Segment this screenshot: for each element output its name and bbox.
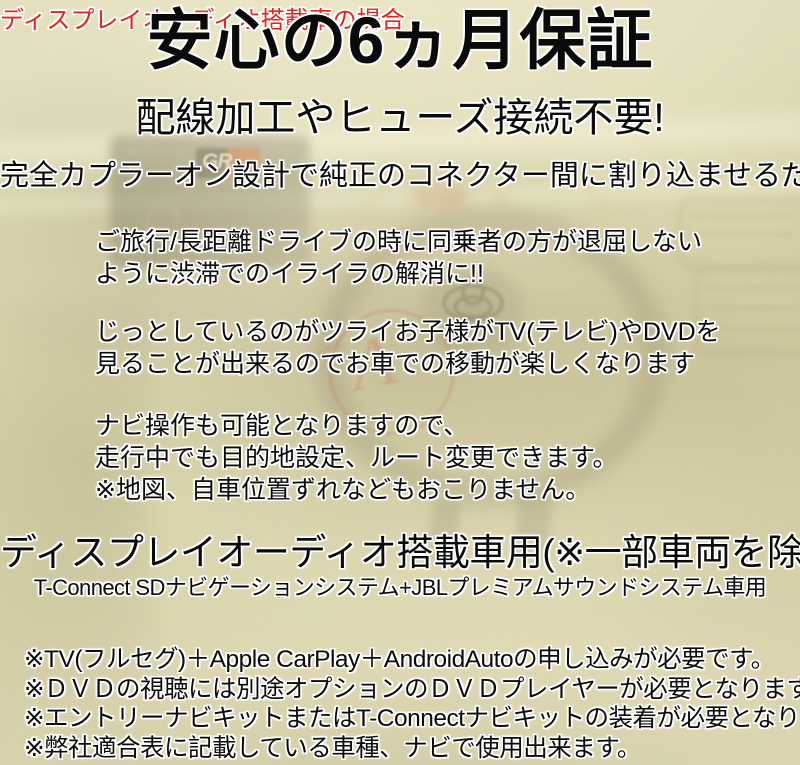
notice-item: ※エントリーナビキットまたはT-Connectナビキットの装着が必要となります。 [24, 704, 800, 734]
compatibility-sub-title: T-Connect SDナビゲーションシステム+JBLプレミアムサウンドシステム… [0, 570, 800, 602]
paragraph-line: ※地図、自車位置ずれなどもおこりません。 [95, 474, 618, 506]
notice-item: ※ＤＶＤの視聴には別途オプションのＤＶＤプレイヤーが必要となります。 [24, 675, 800, 705]
compatibility-main-title: ディスプレイオーディオ搭載車用(※一部車両を除く) [0, 522, 800, 576]
notice-list: ※TV(フルセグ)＋Apple CarPlay＋AndroidAutoの申し込み… [24, 645, 800, 763]
paragraph-line: 走行中でも目的地設定、ルート変更できます。 [95, 442, 618, 474]
paragraph-line: ご旅行/長距離ドライブの時に同乗者の方が退屈しない [95, 226, 702, 258]
subheadline-no-wiring: 配線加工やヒューズ接続不要! [0, 95, 800, 141]
notice-item: ※弊社適合表に記載している車種、ナビで使用出来ます。 [24, 734, 800, 764]
paragraph-navigation: ナビ操作も可能となりますので、 走行中でも目的地設定、ルート変更できます。 ※地… [95, 410, 618, 506]
paragraph-travel: ご旅行/長距離ドライブの時に同乗者の方が退屈しない ように渋滞でのイライラの解消… [95, 226, 702, 290]
paragraph-line: じっとしているのがツライお子様がTV(テレビ)やDVDを [95, 316, 721, 348]
product-banner: GR A Car dvance 安心の6ヵ月 [0, 0, 800, 765]
paragraph-line: ナビ操作も可能となりますので、 [95, 410, 618, 442]
paragraph-line: 見ることが出来るのでお車での移動が楽しくなります [95, 348, 721, 380]
headline-warranty: 安心の6ヵ月保証 [0, 4, 800, 78]
tagline-coupler-on: 完全カプラーオン設計で純正のコネクター間に割り込ませるだけ! [0, 160, 800, 193]
text-overlay: 安心の6ヵ月保証 配線加工やヒューズ接続不要! 完全カプラーオン設計で純正のコネ… [0, 0, 800, 765]
notice-item: ※TV(フルセグ)＋Apple CarPlay＋AndroidAutoの申し込み… [24, 645, 800, 675]
paragraph-kids: じっとしているのがツライお子様がTV(テレビ)やDVDを 見ることが出来るのでお… [95, 316, 721, 380]
paragraph-line: ように渋滞でのイライラの解消に!! [95, 258, 702, 290]
